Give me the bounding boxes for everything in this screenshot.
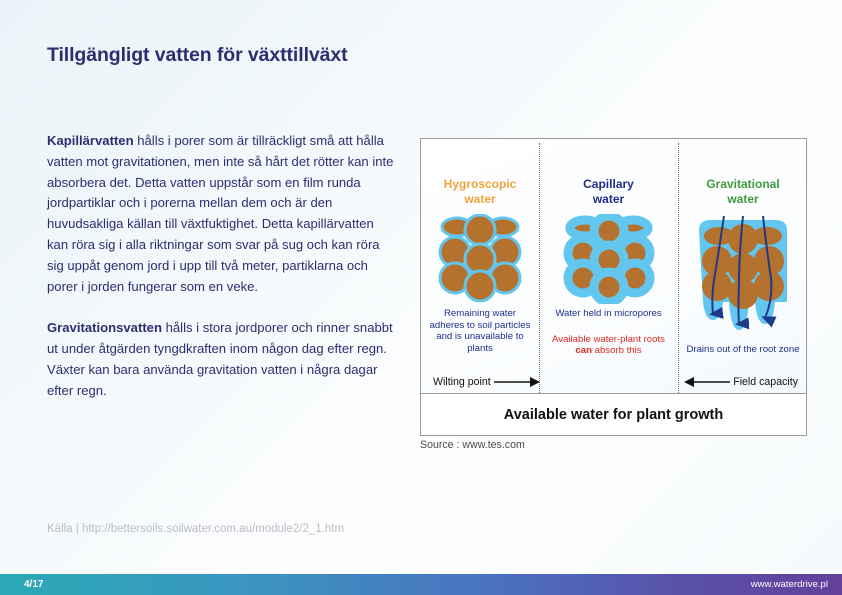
paragraph-gravitational-lead: Gravitationsvatten [47, 320, 162, 335]
figure-source: Source : www.tes.com [420, 439, 525, 451]
footer-bar: 4/17 www.waterdrive.pl [0, 574, 842, 595]
paragraph-gravitational: Gravitationsvatten hålls i stora jordpor… [47, 318, 397, 401]
figure-caption: Available water for plant growth [421, 393, 806, 435]
marker-field-capacity: Field capacity [684, 376, 798, 388]
source-reference: Källa | http://bettersoils.soilwater.com… [47, 523, 344, 535]
figure-column-hygroscopic: Hygroscopic water [421, 139, 539, 394]
soil-particles-capillary-icon [539, 214, 678, 306]
figure-panel: Hygroscopic water [420, 138, 807, 436]
column-note-available-water: Available water-plant roots can absorb t… [539, 334, 678, 357]
paragraph-capillary-lead: Kapillärvatten [47, 133, 134, 148]
column-heading-capillary: Capillary water [539, 177, 678, 206]
column-description-capillary: Water held in micropores [539, 308, 678, 320]
footer-website-url: www.waterdrive.pl [751, 579, 828, 590]
column-heading-hygroscopic: Hygroscopic water [421, 177, 539, 206]
figure-column-gravitational: Gravitational water [678, 139, 807, 394]
soil-particles-hygroscopic-icon [421, 214, 539, 306]
footer-page-number: 4/17 [14, 579, 43, 590]
paragraph-capillary: Kapillärvatten hålls i porer som är till… [47, 131, 397, 297]
arrow-left-icon [684, 377, 730, 387]
soil-particles-gravitational-icon [678, 214, 807, 342]
column-heading-gravitational: Gravitational water [678, 177, 807, 206]
body-text: Kapillärvatten hålls i porer som är till… [47, 131, 397, 401]
column-description-hygroscopic: Remaining water adheres to soil particle… [421, 308, 539, 354]
paragraph-capillary-text: hålls i porer som är tillräckligt små at… [47, 133, 393, 294]
marker-wilting-point-label: Wilting point [433, 376, 491, 388]
figure-column-capillary: Capillary water [539, 139, 678, 394]
marker-field-capacity-label: Field capacity [733, 376, 798, 388]
marker-wilting-point: Wilting point [433, 376, 540, 388]
figure-inner: Hygroscopic water [421, 139, 806, 435]
page-title: Tillgängligt vatten för växttillväxt [47, 44, 348, 67]
arrow-right-icon [494, 377, 540, 387]
